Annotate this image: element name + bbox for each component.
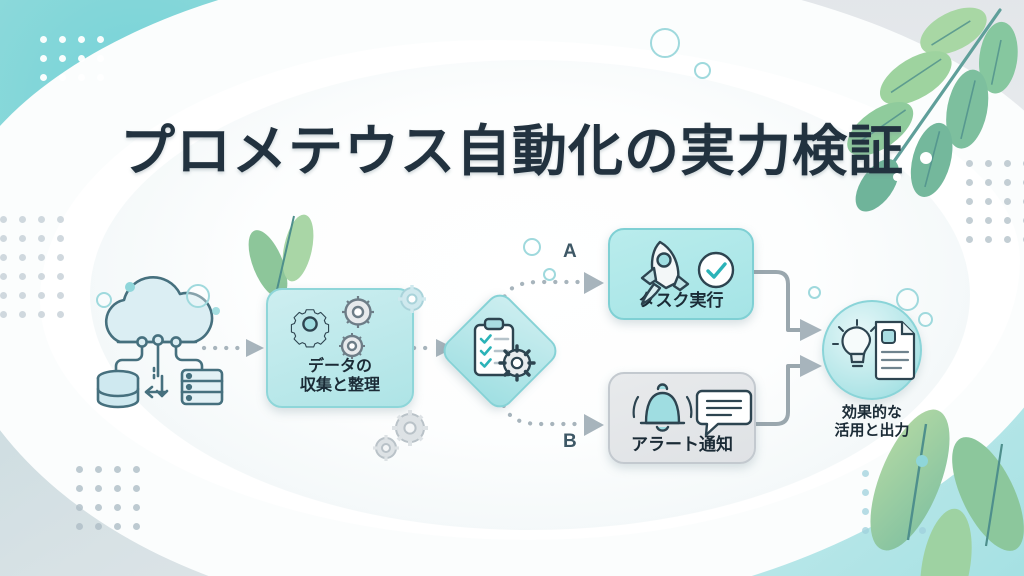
flow-node-output[interactable] bbox=[822, 300, 922, 400]
gear-icon bbox=[500, 346, 534, 380]
output-label-line1: 効果的な bbox=[842, 404, 902, 421]
lightbulb-icon bbox=[833, 320, 875, 366]
flow-node-alert[interactable]: アラート通知 bbox=[608, 372, 756, 464]
output-label-line2: 活用と出力 bbox=[834, 422, 909, 439]
flow-node-check[interactable] bbox=[443, 309, 557, 393]
speech-bubble-icon bbox=[697, 391, 751, 435]
bubble-decoration bbox=[918, 312, 933, 327]
bubble-decoration bbox=[694, 62, 711, 79]
check-circle-icon bbox=[699, 253, 733, 287]
bubble-decoration bbox=[916, 455, 928, 467]
slide-canvas: プロメテウス自動化の実力検証 bbox=[0, 0, 1024, 576]
gear-icon bbox=[398, 285, 426, 313]
bubble-decoration bbox=[543, 268, 556, 281]
bubble-decoration bbox=[896, 288, 919, 311]
gear-icon bbox=[373, 435, 399, 461]
bell-icon bbox=[608, 381, 756, 439]
gear-icon bbox=[392, 410, 428, 446]
bubble-decoration bbox=[650, 28, 680, 58]
document-icon bbox=[876, 322, 914, 379]
flow-node-output-caption: 効果的な 活用と出力 bbox=[812, 404, 932, 440]
clipboard-checklist-icon bbox=[463, 313, 543, 389]
gear-decorations bbox=[0, 0, 1024, 576]
branch-label-a: A bbox=[563, 241, 577, 263]
bubble-decoration bbox=[808, 286, 821, 299]
bubble-decoration bbox=[920, 152, 932, 164]
lightbulb-document-icon-group bbox=[820, 314, 930, 394]
branch-label-b: B bbox=[563, 431, 577, 453]
bubble-decoration bbox=[523, 238, 541, 256]
rocket-icon bbox=[608, 234, 754, 294]
bubble-decoration bbox=[893, 173, 901, 181]
flow-node-task[interactable]: タスク実行 bbox=[608, 228, 754, 320]
